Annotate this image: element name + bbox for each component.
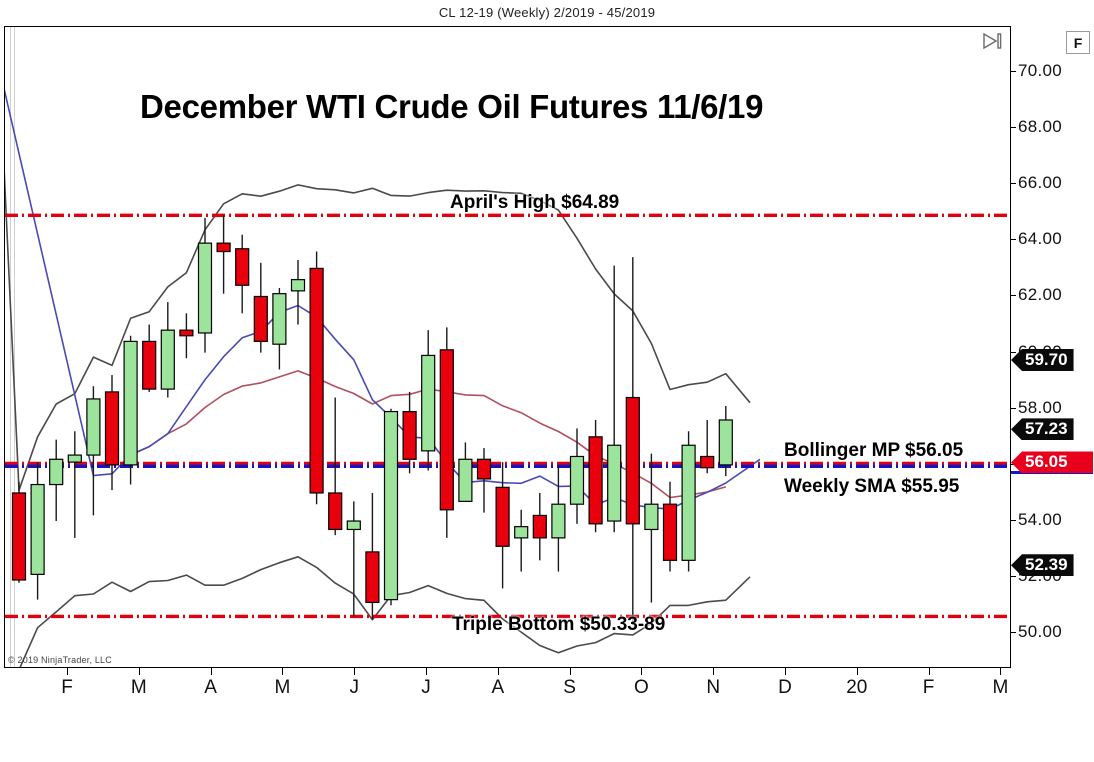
time-axis-label: F (61, 677, 73, 699)
time-axis-tick (354, 668, 355, 675)
time-axis-label: S (563, 677, 576, 699)
time-axis-label: N (706, 677, 720, 699)
trading-chart-screen: CL 12-19 (Weekly) 2/2019 - 45/2019 F 70.… (0, 0, 1094, 762)
time-axis-label: A (204, 677, 217, 699)
annotation-aprils-high: April's High $64.89 (450, 192, 619, 214)
time-axis-tick (139, 668, 140, 675)
copyright-notice: © 2019 NinjaTrader, LLC (8, 655, 112, 665)
time-axis-tick (929, 668, 930, 675)
price-axis-tick (1010, 295, 1016, 296)
annotation-weekly-sma: Weekly SMA $55.95 (784, 476, 959, 498)
time-axis-label: A (491, 677, 504, 699)
annotation-chart-title: December WTI Crude Oil Futures 11/6/19 (140, 88, 763, 126)
annotation-triple-bottom: Triple Bottom $50.33-89 (452, 614, 665, 636)
price-axis-tick (1010, 352, 1016, 353)
price-axis-tick (1010, 520, 1016, 521)
price-axis-line (1010, 26, 1011, 668)
price-axis-tick (1010, 576, 1016, 577)
price-axis-label: 68.00 (1018, 117, 1062, 137)
time-axis-tick (426, 668, 427, 675)
time-axis-tick (67, 668, 68, 675)
price-marker-tag[interactable]: 59.70 (1011, 349, 1074, 371)
time-axis-tick (1000, 668, 1001, 675)
time-axis-tick (857, 668, 858, 675)
time-axis-label: 20 (846, 677, 867, 699)
time-axis-label: F (923, 677, 935, 699)
price-marker-tag[interactable]: 57.23 (1011, 418, 1074, 440)
time-axis-tick (211, 668, 212, 675)
annotation-bollinger-mp: Bollinger MP $56.05 (784, 440, 963, 462)
time-axis-tick (498, 668, 499, 675)
time-axis-label: M (274, 677, 290, 699)
price-axis-label: 64.00 (1018, 229, 1062, 249)
price-axis-tick (1010, 632, 1016, 633)
time-axis-tick (785, 668, 786, 675)
price-axis-tick (1010, 71, 1016, 72)
time-axis-tick (713, 668, 714, 675)
price-axis-label: 54.00 (1018, 510, 1062, 530)
time-axis-label: J (349, 677, 359, 699)
time-axis-label: M (992, 677, 1008, 699)
time-axis-tick (282, 668, 283, 675)
time-axis-tick (641, 668, 642, 675)
price-marker-tag[interactable]: 52.39 (1011, 554, 1074, 576)
price-axis-label: 62.00 (1018, 285, 1062, 305)
price-axis-tick (1010, 239, 1016, 240)
price-axis[interactable]: 70.0068.0066.0064.0062.0060.0058.0056.00… (1010, 26, 1094, 668)
price-axis-label: 50.00 (1018, 622, 1062, 642)
price-axis-tick (1010, 183, 1016, 184)
chart-title-bar: CL 12-19 (Weekly) 2/2019 - 45/2019 (439, 5, 655, 20)
price-axis-tick (1010, 408, 1016, 409)
time-axis-label: J (421, 677, 431, 699)
time-axis-tick (570, 668, 571, 675)
chart-header: CL 12-19 (Weekly) 2/2019 - 45/2019 (0, 0, 1094, 24)
time-axis-label: M (131, 677, 147, 699)
time-axis-label: O (634, 677, 649, 699)
time-axis[interactable]: FMAMJJASOND20FM (4, 667, 1010, 707)
time-axis-label: D (778, 677, 792, 699)
time-axis-line (4, 667, 1010, 668)
price-axis-tick (1010, 127, 1016, 128)
price-axis-label: 58.00 (1018, 398, 1062, 418)
price-axis-label: 70.00 (1018, 61, 1062, 81)
skip-to-end-icon[interactable] (982, 32, 1004, 50)
last-price-tag[interactable]: 56.05 (1011, 451, 1093, 473)
price-axis-label: 66.00 (1018, 173, 1062, 193)
